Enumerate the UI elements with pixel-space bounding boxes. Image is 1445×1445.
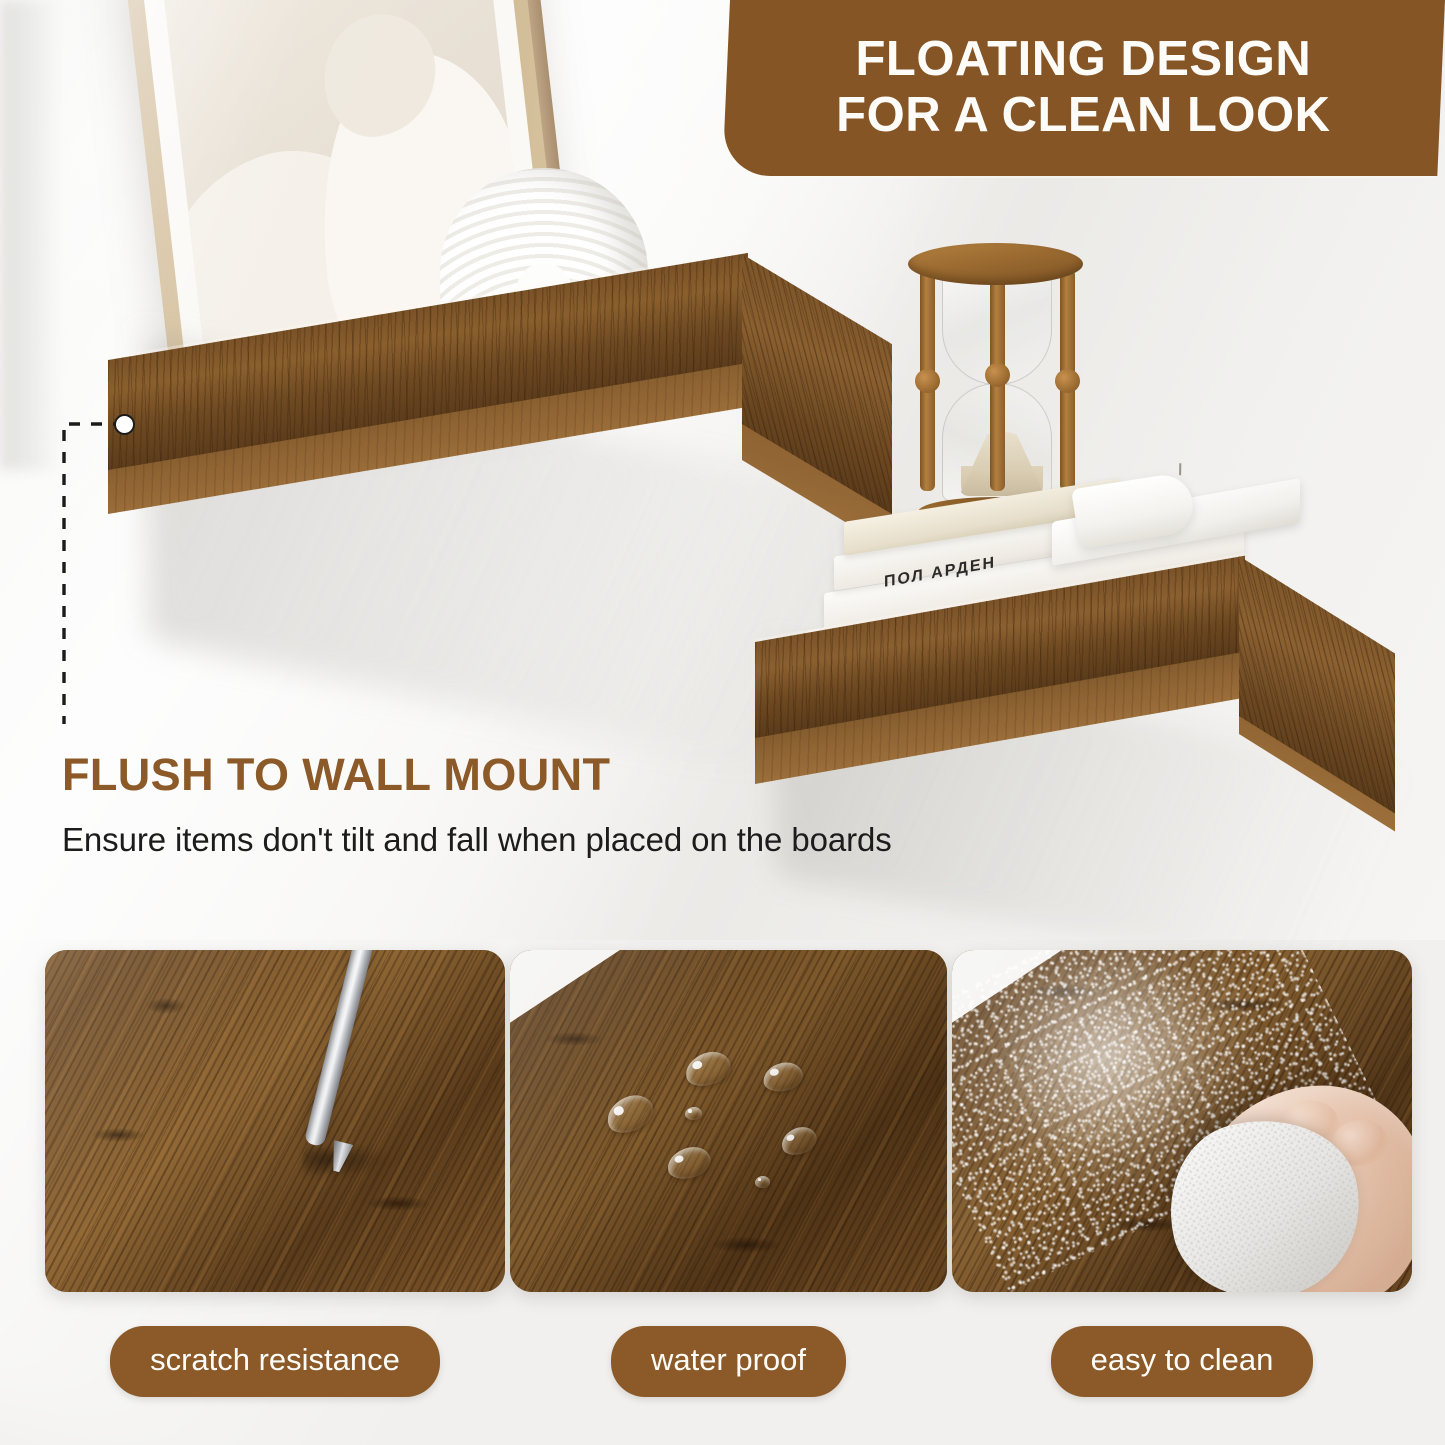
tile-gloss (952, 950, 1412, 1292)
tile-gloss (45, 950, 505, 1292)
screwdriver-on-wood-photo (45, 950, 505, 1292)
hourglass-knob-left (915, 369, 940, 393)
feature-row: scratch resistance water proof (0, 950, 1445, 1445)
water-droplets-on-wood-photo (510, 950, 947, 1292)
badge-water-proof: water proof (611, 1326, 846, 1397)
flush-mount-callout (52, 424, 142, 734)
wall-corner-shade (0, 0, 60, 470)
banner-line-1: FLOATING DESIGN (836, 32, 1330, 88)
header-banner: FLOATING DESIGN FOR A CLEAN LOOK (722, 0, 1445, 176)
badge-scratch-resistance: scratch resistance (110, 1326, 440, 1397)
hourglass-knob-right (1055, 369, 1080, 393)
hand-wiping-powder-photo (952, 950, 1412, 1292)
hourglass-knob-center (985, 363, 1010, 387)
feature-item-easy-to-clean: easy to clean (952, 950, 1412, 1397)
section-title: FLUSH TO WALL MOUNT (62, 752, 1362, 797)
tile-gloss (510, 950, 947, 1292)
banner-line-2: FOR A CLEAN LOOK (836, 88, 1330, 144)
feature-item-water-proof: water proof (510, 950, 947, 1397)
flush-mount-marker (114, 414, 135, 435)
header-banner-text: FLOATING DESIGN FOR A CLEAN LOOK (836, 32, 1330, 144)
mid-text-block: FLUSH TO WALL MOUNT Ensure items don't t… (62, 752, 1362, 859)
candle-wick (1179, 463, 1181, 475)
product-infographic: 2023 ПОЛ АРДЕН УРОКИ СТИЛЯ FLOATING DESI… (0, 0, 1445, 1445)
upper-left-floating-shelf (108, 300, 888, 540)
hourglass-top-cap (908, 243, 1083, 285)
feature-item-scratch-resistance: scratch resistance (45, 950, 505, 1397)
badge-easy-to-clean: easy to clean (1051, 1326, 1314, 1397)
section-subtitle: Ensure items don't tilt and fall when pl… (62, 821, 1362, 859)
callout-dashed-line (52, 424, 142, 734)
